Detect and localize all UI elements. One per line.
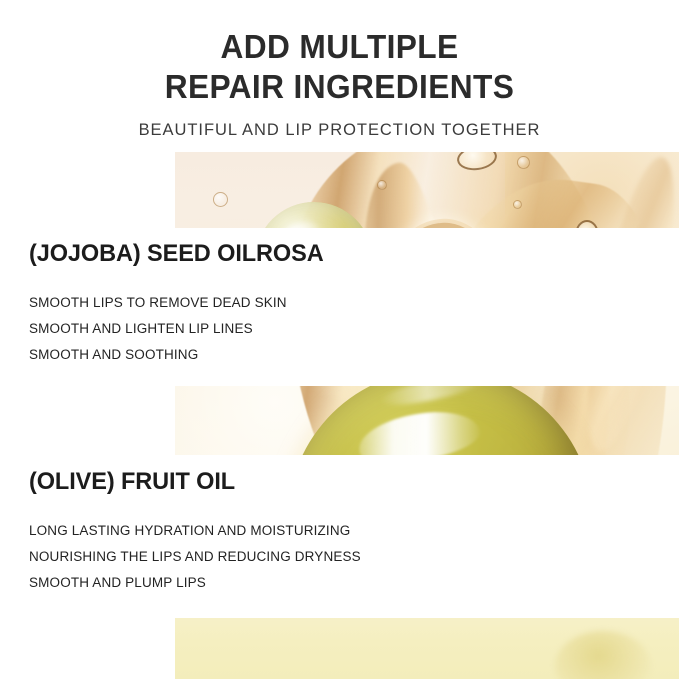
page-title: ADD MULTIPLE REPAIR INGREDIENTS [14,0,666,107]
ingredient-section-jojoba: (JOJOBA) SEED OILROSA SMOOTH LIPS TO REM… [29,240,429,368]
ingredient-title-olive: (OLIVE) FRUIT OIL [29,468,421,496]
headline-line-1: ADD MULTIPLE [14,27,666,67]
ingredient-benefits-olive: LONG LASTING HYDRATION AND MOISTURIZING … [29,496,429,596]
benefit-item: NOURISHING THE LIPS AND REDUCING DRYNESS [29,544,429,570]
headline-line-2: REPAIR INGREDIENTS [14,67,666,107]
benefit-item: SMOOTH LIPS TO REMOVE DEAD SKIN [29,290,429,316]
mini-bubble-3 [517,156,530,169]
mini-bubble-4 [513,200,522,209]
header-block: ADD MULTIPLE REPAIR INGREDIENTS BEAUTIFU… [0,0,679,140]
ingredient-section-olive: (OLIVE) FRUIT OIL LONG LASTING HYDRATION… [29,468,429,596]
benefit-item: SMOOTH AND LIGHTEN LIP LINES [29,316,429,342]
ingredient-title-jojoba: (JOJOBA) SEED OILROSA [29,240,421,268]
mini-bubble-1 [213,192,228,207]
mini-bubble-2 [377,180,387,190]
benefit-item: SMOOTH AND PLUMP LIPS [29,570,429,596]
product-ingredient-infographic: ADD MULTIPLE REPAIR INGREDIENTS BEAUTIFU… [0,0,679,679]
benefit-item: SMOOTH AND SOOTHING [29,342,429,368]
page-subtitle: BEAUTIFUL AND LIP PROTECTION TOGETHER [10,107,669,140]
ingredient-benefits-jojoba: SMOOTH LIPS TO REMOVE DEAD SKIN SMOOTH A… [29,268,429,368]
benefit-item: LONG LASTING HYDRATION AND MOISTURIZING [29,518,429,544]
